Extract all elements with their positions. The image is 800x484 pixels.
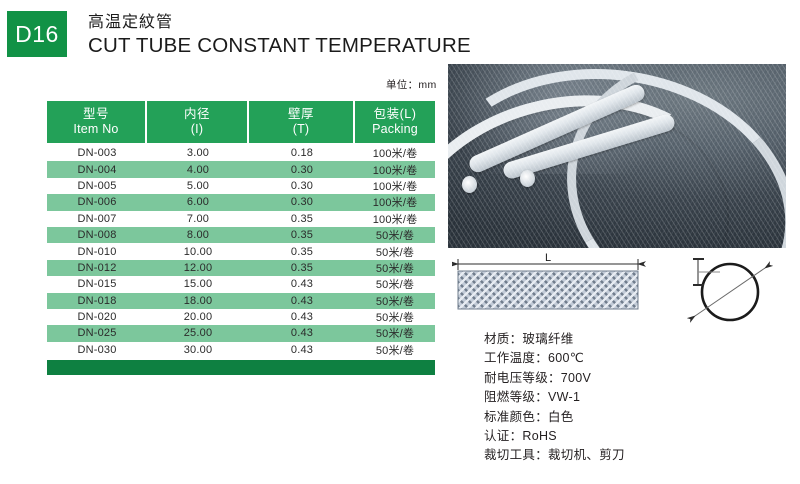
column-header-item-no: 型号 Item No	[47, 101, 147, 143]
column-header-wall-thickness: 壁厚 (T)	[249, 101, 355, 143]
table-cell: 100米/卷	[355, 161, 435, 177]
table-cell: 50米/卷	[355, 325, 435, 341]
table-cell: 0.43	[249, 293, 355, 309]
column-header-cn: 型号	[83, 107, 109, 122]
page-title-cn: 高温定紋管	[88, 13, 471, 32]
table-cell: 0.35	[249, 243, 355, 259]
product-photo	[448, 64, 786, 248]
table-row: DN-02020.000.4350米/卷	[47, 309, 435, 325]
column-header-cn: 内径	[184, 107, 210, 122]
table-cell: DN-003	[47, 145, 147, 161]
column-header-cn: 包装(L)	[374, 107, 417, 122]
dimension-diagrams: L	[452, 252, 788, 326]
column-header-en: Item No	[73, 122, 118, 137]
product-code-badge: D16	[7, 11, 67, 57]
table-cell: 100米/卷	[355, 211, 435, 227]
table-cell: 0.30	[249, 194, 355, 210]
table-cell: 25.00	[147, 325, 249, 341]
table-cell: 50米/卷	[355, 309, 435, 325]
table-cell: DN-007	[47, 211, 147, 227]
table-cell: DN-015	[47, 276, 147, 292]
table-cell: 8.00	[147, 227, 249, 243]
column-header-packing: 包装(L) Packing	[355, 101, 435, 143]
specification-table: 型号 Item No 内径 (I) 壁厚 (T) 包装(L) Packing D…	[47, 101, 435, 375]
table-cell: 0.43	[249, 276, 355, 292]
spec-line: 认证：RoHS	[484, 427, 625, 446]
table-cell: 50米/卷	[355, 293, 435, 309]
table-cell: 0.43	[249, 309, 355, 325]
length-dimension: L	[458, 252, 638, 270]
table-cell: DN-005	[47, 178, 147, 194]
braided-sleeve-body	[458, 271, 638, 309]
spec-line: 耐电压等级：700V	[484, 369, 625, 388]
table-footer-bar	[47, 360, 435, 375]
table-cell: 20.00	[147, 309, 249, 325]
sleeving-cut-end	[462, 176, 477, 193]
table-cell: DN-008	[47, 227, 147, 243]
product-spec-sheet: D16 高温定紋管 CUT TUBE CONSTANT TEMPERATURE …	[0, 0, 800, 484]
table-cell: 4.00	[147, 161, 249, 177]
wall-thickness-marker	[693, 258, 720, 286]
specification-list: 材质：玻璃纤维工作温度：600℃耐电压等级：700V阻燃等级：VW-1标准颜色：…	[484, 330, 625, 466]
spec-line: 标准颜色：白色	[484, 408, 625, 427]
sleeving-cut-end	[520, 170, 535, 187]
table-cell: DN-012	[47, 260, 147, 276]
spec-line: 阻燃等级：VW-1	[484, 388, 625, 407]
table-body: DN-0033.000.18100米/卷DN-0044.000.30100米/卷…	[47, 145, 435, 358]
table-row: DN-0088.000.3550米/卷	[47, 227, 435, 243]
table-row: DN-01010.000.3550米/卷	[47, 243, 435, 259]
table-cell: 50米/卷	[355, 227, 435, 243]
table-cell: 0.35	[249, 260, 355, 276]
table-cell: 0.18	[249, 145, 355, 161]
table-cell: 50米/卷	[355, 276, 435, 292]
table-cell: DN-025	[47, 325, 147, 341]
table-row: DN-0066.000.30100米/卷	[47, 194, 435, 210]
table-cell: 5.00	[147, 178, 249, 194]
table-cell: 15.00	[147, 276, 249, 292]
table-cell: 7.00	[147, 211, 249, 227]
column-header-cn: 壁厚	[288, 107, 314, 122]
column-header-en: (T)	[293, 122, 310, 137]
table-cell: DN-006	[47, 194, 147, 210]
table-cell: 100米/卷	[355, 194, 435, 210]
table-cell: 18.00	[147, 293, 249, 309]
spec-line: 裁切工具：裁切机、剪刀	[484, 446, 625, 465]
column-header-inner-diameter: 内径 (I)	[147, 101, 249, 143]
table-cell: 10.00	[147, 243, 249, 259]
page-title-en: CUT TUBE CONSTANT TEMPERATURE	[88, 34, 471, 58]
table-cell: 0.35	[249, 211, 355, 227]
column-header-en: (I)	[191, 122, 203, 137]
table-cell: 12.00	[147, 260, 249, 276]
table-cell: 0.30	[249, 178, 355, 194]
table-row: DN-0033.000.18100米/卷	[47, 145, 435, 161]
table-cell: 3.00	[147, 145, 249, 161]
table-cell: DN-030	[47, 342, 147, 358]
table-cell: DN-018	[47, 293, 147, 309]
table-cell: 100米/卷	[355, 178, 435, 194]
length-label: L	[545, 252, 551, 264]
table-header-row: 型号 Item No 内径 (I) 壁厚 (T) 包装(L) Packing	[47, 101, 435, 143]
table-cell: 50米/卷	[355, 243, 435, 259]
table-row: DN-0077.000.35100米/卷	[47, 211, 435, 227]
table-row: DN-01212.000.3550米/卷	[47, 260, 435, 276]
table-row: DN-02525.000.4350米/卷	[47, 325, 435, 341]
table-row: DN-01515.000.4350米/卷	[47, 276, 435, 292]
cross-section-diagram	[693, 258, 765, 320]
column-header-en: Packing	[372, 122, 418, 137]
table-row: DN-01818.000.4350米/卷	[47, 293, 435, 309]
table-row: DN-0055.000.30100米/卷	[47, 178, 435, 194]
table-row: DN-0044.000.30100米/卷	[47, 161, 435, 177]
table-cell: 0.43	[249, 342, 355, 358]
table-cell: 0.35	[249, 227, 355, 243]
table-cell: 100米/卷	[355, 145, 435, 161]
spec-line: 材质：玻璃纤维	[484, 330, 625, 349]
table-cell: DN-004	[47, 161, 147, 177]
spec-line: 工作温度：600℃	[484, 349, 625, 368]
table-cell: 50米/卷	[355, 260, 435, 276]
table-cell: 30.00	[147, 342, 249, 358]
table-cell: DN-010	[47, 243, 147, 259]
table-cell: 0.43	[249, 325, 355, 341]
unit-note: 单位：mm	[386, 77, 437, 92]
table-cell: 6.00	[147, 194, 249, 210]
table-cell: 50米/卷	[355, 342, 435, 358]
table-row: DN-03030.000.4350米/卷	[47, 342, 435, 358]
title-block: 高温定紋管 CUT TUBE CONSTANT TEMPERATURE	[88, 13, 471, 58]
table-cell: 0.30	[249, 161, 355, 177]
table-cell: DN-020	[47, 309, 147, 325]
diagram-svg: L	[452, 252, 788, 326]
inner-diameter-arrow	[695, 268, 765, 316]
